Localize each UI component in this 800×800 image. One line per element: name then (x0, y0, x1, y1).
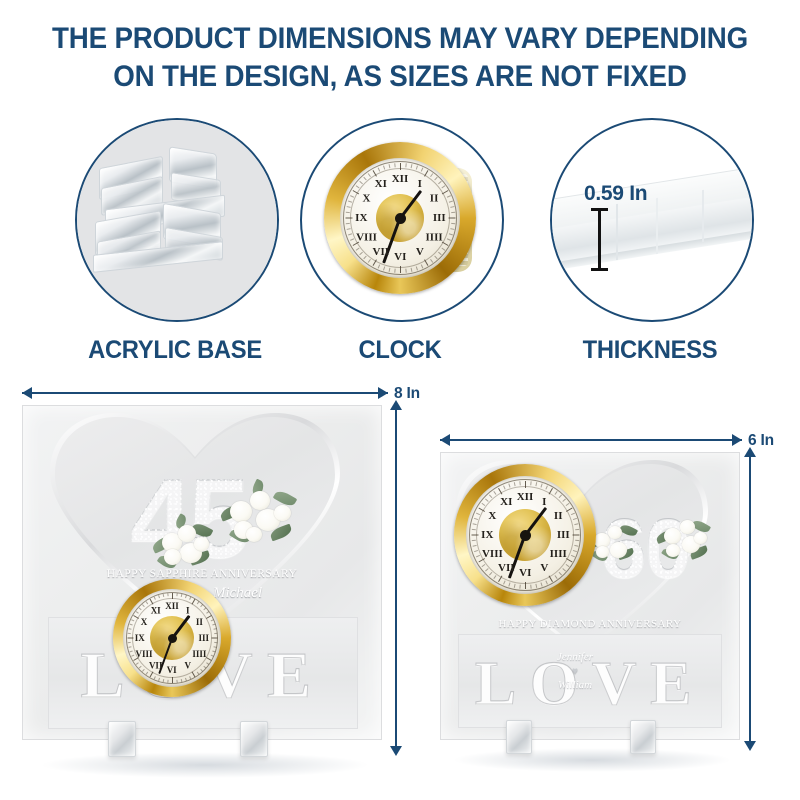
clock-tick (172, 593, 173, 599)
product-1-bouquet-left (150, 513, 216, 571)
feature-label-acrylic-base: ACRYLIC BASE (80, 336, 270, 365)
product-2-name-second: William (535, 678, 615, 693)
clock-circle: XIIIIIIIIIIIIVVIVIIVIIIIXXXI (300, 118, 504, 322)
clock-tick (525, 582, 526, 589)
product-2-shadow (452, 748, 732, 772)
acrylic-base-circle (75, 118, 279, 322)
product-2-names: Jennifer ♥ William (535, 650, 615, 693)
thickness-measure-cap-top (591, 208, 608, 211)
product-1-clock: XIIIIIIIIIIIIVVIVIIVIIIIXXXI (113, 579, 231, 697)
product-2-height-arrow (749, 455, 751, 743)
product-1-height-arrow (395, 408, 397, 748)
feature-label-clock: CLOCK (305, 336, 495, 365)
product-2-plaque: 60 60 HAPPY DIAMOND ANNIVERSARY LOVE (440, 452, 740, 740)
product-1-foot-right (240, 721, 268, 757)
thickness-value: 0.59 In (584, 182, 647, 206)
product-2-clock: XIIIIIIIIIIIIVVIVIIVIIIIXXXI (454, 464, 596, 606)
feature-clock: XIIIIIIIIIIIIVVIVIIVIIIIXXXI CLOCK (300, 118, 500, 365)
product-1-bouquet-right (220, 483, 300, 549)
product-2-name-first: Jennifer (535, 650, 615, 665)
product-2-bouquet-right (656, 514, 712, 564)
clock-tick (400, 266, 401, 273)
product-2-foot-right (630, 720, 656, 754)
clock-tick (400, 163, 401, 170)
product-2-width-arrow (440, 439, 742, 441)
clock-tick (525, 481, 526, 488)
arrow-head-right-icon (732, 434, 742, 446)
page-title: THE PRODUCT DIMENSIONS MAY VARY DEPENDIN… (24, 20, 776, 96)
product-1-anniversary-text: HAPPY SAPPHIRE ANNIVERSARY (22, 568, 382, 580)
feature-label-thickness: THICKNESS (555, 336, 745, 365)
product-1-plaque: 45 45 HAPPY S (22, 405, 382, 740)
product-1-width-arrow (22, 392, 388, 394)
product-1-name-second: Michael (213, 585, 262, 601)
product-1-foot-left (108, 721, 136, 757)
feature-acrylic-base: ACRYLIC BASE (75, 118, 275, 365)
product-2-anniversary-text: HAPPY DIAMOND ANNIVERSARY (440, 618, 740, 630)
clock-tick (405, 269, 406, 273)
gold-clock-photo: XIIIIIIIIIIIIVVIVIIVIIIIXXXI (302, 120, 502, 320)
heart-separator-icon: ♥ (535, 665, 615, 679)
headline-line-1: THE PRODUCT DIMENSIONS MAY VARY DEPENDIN… (52, 22, 748, 55)
clock-tick (176, 680, 177, 683)
clock-tick (519, 481, 520, 485)
arrow-head-right-icon (378, 387, 388, 399)
arrow-head-up-icon (744, 447, 756, 457)
thickness-measure-bar (598, 208, 601, 270)
feature-clock-face: XIIIIIIIIIIIIVVIVIIVIIIIXXXI (324, 142, 476, 294)
clock-tick (172, 677, 173, 683)
arrow-head-down-icon (744, 741, 756, 751)
infographic-canvas: THE PRODUCT DIMENSIONS MAY VARY DEPENDIN… (0, 0, 800, 800)
arrow-head-up-icon (390, 400, 402, 410)
thickness-measure-cap-bottom (591, 268, 608, 271)
acrylic-slab-photo: 0.59 In (552, 120, 752, 320)
arrow-head-down-icon (390, 746, 402, 756)
feature-thickness: 0.59 In THICKNESS (550, 118, 750, 365)
acrylic-base-photo (77, 120, 277, 320)
arrow-head-left-icon (22, 387, 32, 399)
headline-line-2: ON THE DESIGN, AS SIZES ARE NOT FIXED (24, 58, 776, 96)
product-1-shadow (40, 752, 370, 778)
product-2-foot-left (506, 720, 532, 754)
arrow-head-left-icon (440, 434, 450, 446)
thickness-circle: 0.59 In (550, 118, 754, 322)
clock-tick (394, 163, 395, 167)
clock-tick (167, 593, 168, 596)
